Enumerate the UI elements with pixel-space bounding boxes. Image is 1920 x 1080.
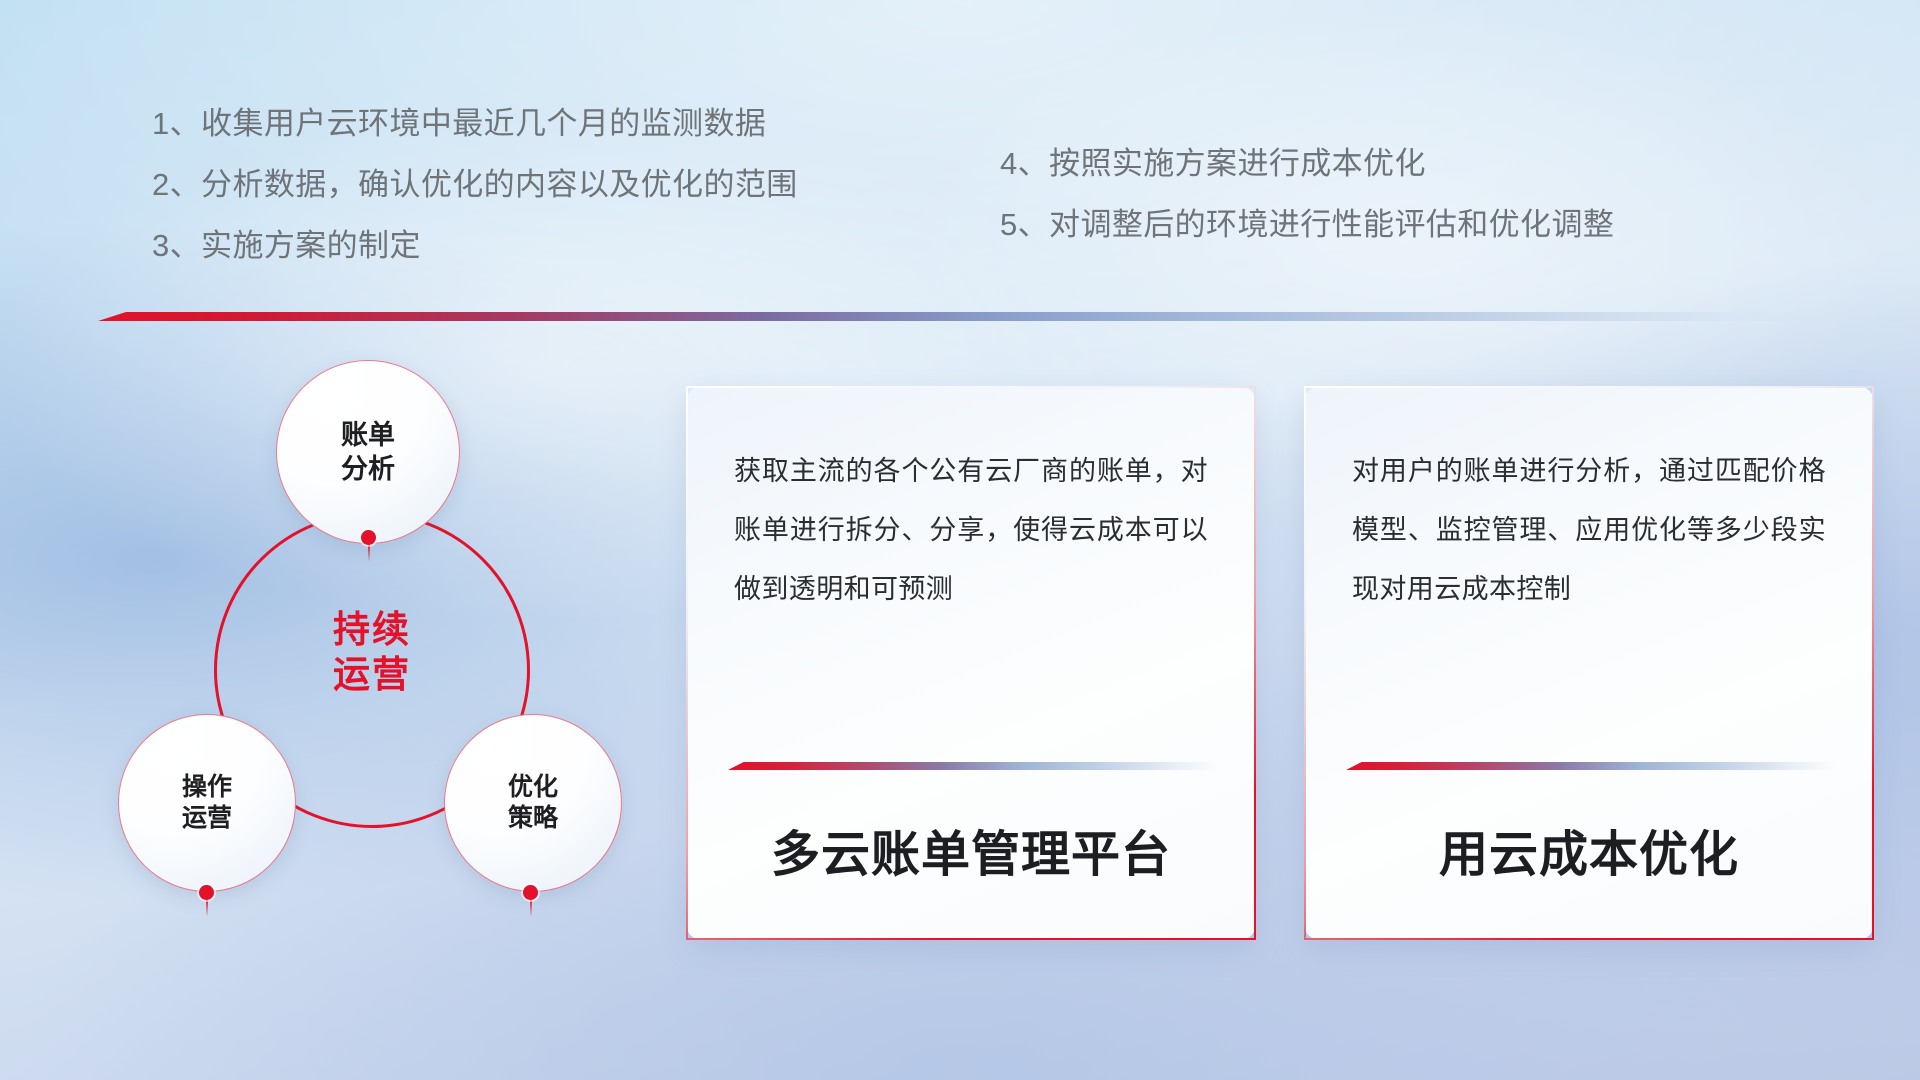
diagram-bubble-optimization-strategy[interactable]: 优化 策略: [444, 714, 622, 892]
feature-card-multicloud-billing[interactable]: 获取主流的各个公有云厂商的账单，对账单进行拆分、分享，使得云成本可以做到透明和可…: [686, 386, 1256, 940]
section-divider: [98, 312, 1850, 321]
node-tail-right-icon: [530, 899, 532, 917]
bubble-top-line-2: 分析: [341, 452, 395, 486]
node-tail-top-icon: [368, 544, 370, 562]
node-tail-left-icon: [206, 899, 208, 917]
step-item-2: 2、分析数据，确认优化的内容以及优化的范围: [152, 169, 798, 200]
center-label-line-2: 运营: [214, 652, 530, 697]
diagram-bubble-operation[interactable]: 操作 运营: [118, 714, 296, 892]
bubble-right-line-2: 策略: [508, 803, 558, 835]
node-dot-right-icon: [523, 885, 538, 900]
bubble-right-line-1: 优化: [508, 772, 558, 804]
steps-right-column: 4、按照实施方案进行成本优化 5、对调整后的环境进行性能评估和优化调整: [1000, 148, 1614, 270]
bubble-left-line-1: 操作: [182, 772, 232, 804]
continuous-operation-diagram: 持续 运营 账单 分析 操作 运营 优化 策略: [96, 352, 656, 952]
step-item-5: 5、对调整后的环境进行性能评估和优化调整: [1000, 209, 1614, 240]
bubble-left-line-2: 运营: [182, 803, 232, 835]
steps-section: 1、收集用户云环境中最近几个月的监测数据 2、分析数据，确认优化的内容以及优化的…: [0, 108, 1920, 298]
step-item-3: 3、实施方案的制定: [152, 230, 798, 261]
feature-card-2-rule: [1346, 762, 1834, 770]
feature-card-1-rule: [728, 762, 1216, 770]
steps-left-column: 1、收集用户云环境中最近几个月的监测数据 2、分析数据，确认优化的内容以及优化的…: [152, 108, 798, 291]
feature-card-1-description: 获取主流的各个公有云厂商的账单，对账单进行拆分、分享，使得云成本可以做到透明和可…: [734, 442, 1208, 619]
feature-card-2-title: 用云成本优化: [1306, 815, 1872, 886]
feature-card-2-description: 对用户的账单进行分析，通过匹配价格模型、监控管理、应用优化等多少段实现对用云成本…: [1352, 442, 1826, 619]
feature-card-1-title: 多云账单管理平台: [688, 815, 1254, 886]
node-dot-left-icon: [199, 885, 214, 900]
step-item-4: 4、按照实施方案进行成本优化: [1000, 148, 1614, 179]
bubble-top-line-1: 账单: [341, 418, 395, 452]
feature-card-cloud-cost-optimization[interactable]: 对用户的账单进行分析，通过匹配价格模型、监控管理、应用优化等多少段实现对用云成本…: [1304, 386, 1874, 940]
node-dot-top-icon: [361, 530, 376, 545]
step-item-1: 1、收集用户云环境中最近几个月的监测数据: [152, 108, 798, 139]
diagram-bubble-bill-analysis[interactable]: 账单 分析: [276, 360, 460, 544]
center-label-line-1: 持续: [214, 607, 530, 652]
diagram-center-label: 持续 运营: [214, 607, 530, 697]
